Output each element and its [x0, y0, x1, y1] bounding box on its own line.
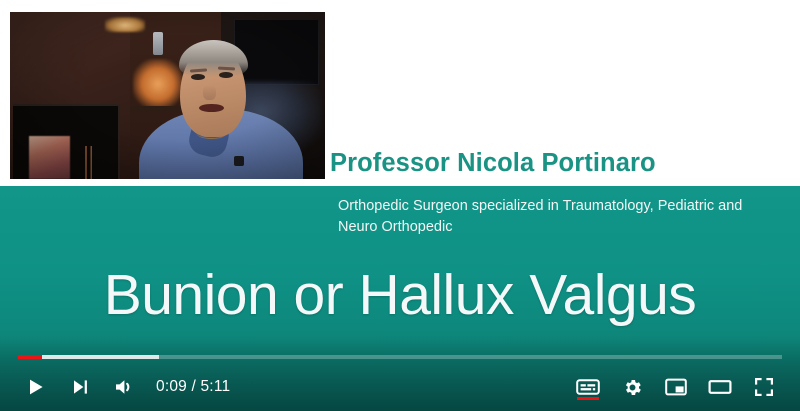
settings-button[interactable]: [610, 367, 654, 407]
webcam-scene: [10, 12, 325, 179]
presenter-name: Professor Nicola Portinaro: [330, 140, 800, 186]
presenter-webcam-inset: [10, 12, 325, 179]
webcam-vignette: [10, 12, 325, 179]
play-button[interactable]: [14, 367, 58, 407]
progress-bar[interactable]: [18, 355, 782, 359]
slide-headline: Bunion or Hallux Valgus: [0, 262, 800, 328]
video-slide: Professor Nicola Portinaro Orthopedic Su…: [0, 0, 800, 411]
volume-button[interactable]: [102, 367, 146, 407]
gear-icon: [622, 377, 643, 398]
presenter-subtitle: Orthopedic Surgeon specialized in Trauma…: [338, 196, 778, 237]
theater-button[interactable]: [698, 367, 742, 407]
miniplayer-button[interactable]: [654, 367, 698, 407]
volume-icon: [113, 377, 135, 397]
captions-button[interactable]: [566, 367, 610, 407]
fullscreen-button[interactable]: [742, 367, 786, 407]
video-player[interactable]: Professor Nicola Portinaro Orthopedic Su…: [0, 0, 800, 411]
progress-bar-row[interactable]: [0, 352, 800, 362]
progress-played: [18, 355, 42, 359]
play-icon: [26, 377, 46, 397]
time-display: 0:09 / 5:11: [156, 378, 230, 396]
controls-left-group: 0:09 / 5:11: [14, 367, 230, 407]
closed-captions-icon: [576, 378, 600, 396]
next-track-icon: [70, 377, 90, 397]
next-button[interactable]: [58, 367, 102, 407]
controls-bar: 0:09 / 5:11: [0, 363, 800, 411]
captions-active-indicator: [577, 397, 599, 400]
theater-mode-icon: [708, 378, 732, 396]
fullscreen-icon: [754, 377, 774, 397]
controls-right-group: [566, 367, 786, 407]
picture-in-picture-icon: [665, 378, 687, 396]
